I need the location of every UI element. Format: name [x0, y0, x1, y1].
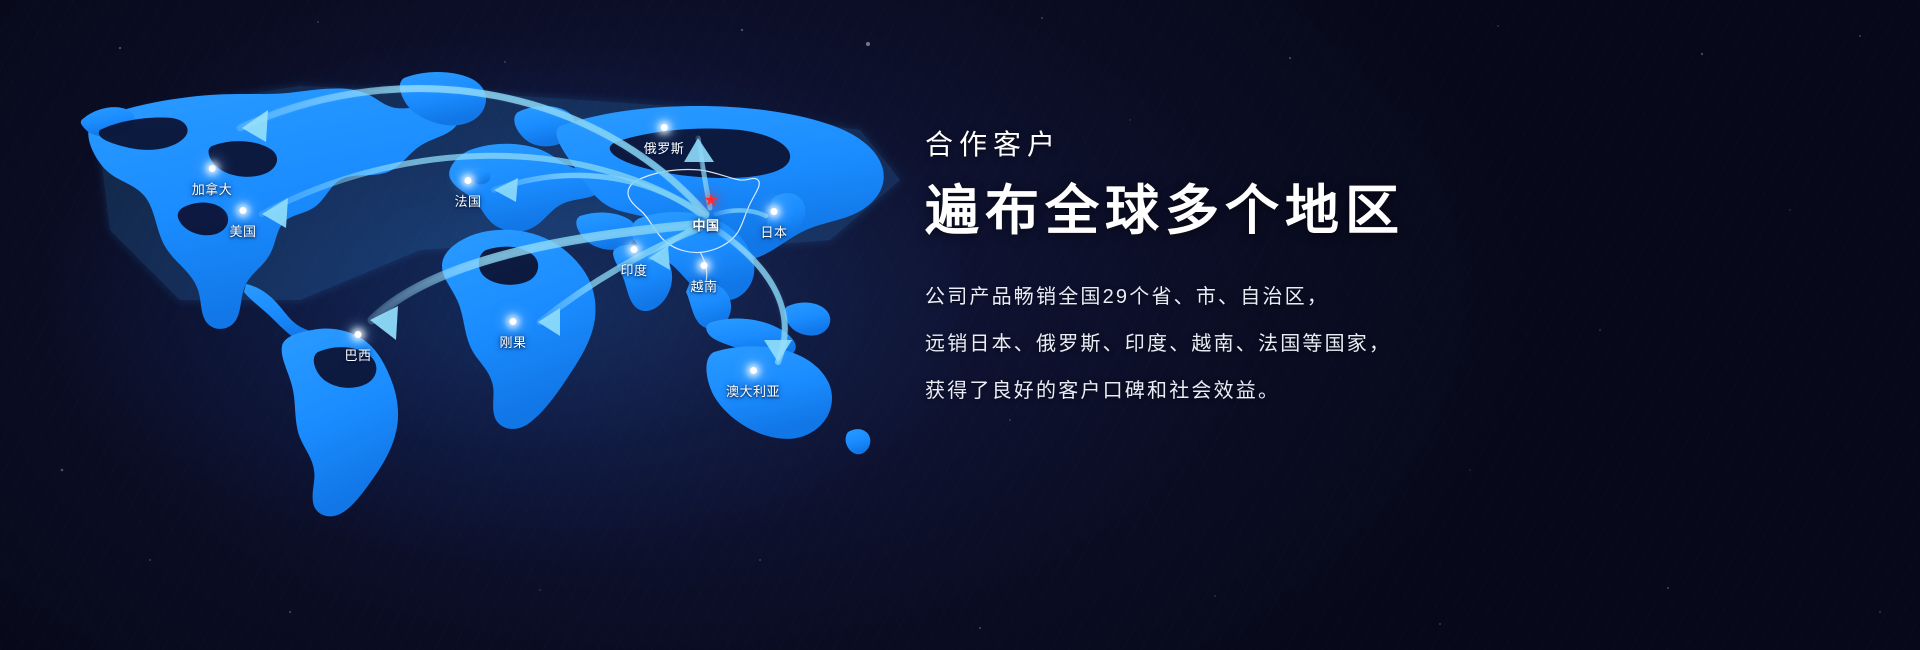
description-line-1: 公司产品畅销全国29个省、市、自治区， [925, 282, 1845, 313]
description-line-3: 获得了良好的客户口碑和社会效益。 [925, 376, 1845, 407]
map-marker-label: 日本 [760, 222, 787, 241]
hero-copy: 合作客户 遍布全球多个地区 公司产品畅销全国29个省、市、自治区， 远销日本、俄… [925, 128, 1845, 407]
map-marker-label: 巴西 [344, 345, 371, 364]
map-marker-australia[interactable]: 澳大利亚 [726, 367, 780, 400]
description-line-2: 远销日本、俄罗斯、印度、越南、法国等国家， [925, 329, 1845, 360]
map-marker-brazil[interactable]: 巴西 [344, 331, 371, 364]
map-marker-label: 俄罗斯 [644, 138, 685, 157]
marker-dot-icon [630, 246, 637, 253]
map-marker-label: 中国 [692, 215, 719, 234]
map-marker-label: 刚果 [499, 332, 526, 351]
marker-dot-icon [700, 262, 707, 269]
marker-dot-icon [749, 367, 756, 374]
map-marker-vietnam[interactable]: 越南 [690, 262, 717, 295]
world-map: 加拿大 美国 巴西 法国 俄罗斯 日本 印度 越南 [0, 0, 960, 650]
map-marker-france[interactable]: 法国 [454, 177, 481, 210]
map-marker-congo[interactable]: 刚果 [499, 318, 526, 351]
map-marker-india[interactable]: 印度 [620, 246, 647, 279]
map-marker-label: 美国 [229, 221, 256, 240]
marker-dot-icon [354, 331, 361, 338]
hero-banner: 加拿大 美国 巴西 法国 俄罗斯 日本 印度 越南 [0, 0, 1920, 650]
map-marker-canada[interactable]: 加拿大 [192, 165, 233, 198]
eyebrow-heading: 合作客户 [925, 128, 1845, 162]
marker-dot-icon [239, 207, 246, 214]
home-marker-star-icon: ★ [703, 192, 718, 209]
map-marker-label: 印度 [620, 260, 647, 279]
page-title: 遍布全球多个地区 [925, 180, 1845, 242]
map-marker-japan[interactable]: 日本 [760, 208, 787, 241]
description-paragraph: 公司产品畅销全国29个省、市、自治区， 远销日本、俄罗斯、印度、越南、法国等国家… [925, 282, 1845, 407]
marker-dot-icon [770, 208, 777, 215]
map-marker-label: 越南 [690, 276, 717, 295]
marker-dot-icon [208, 165, 215, 172]
marker-dot-icon [464, 177, 471, 184]
world-map-svg [0, 0, 960, 650]
map-marker-label: 澳大利亚 [726, 381, 780, 400]
map-marker-label: 加拿大 [192, 179, 233, 198]
map-marker-russia[interactable]: 俄罗斯 [644, 124, 685, 157]
map-marker-china[interactable]: 中国 [692, 215, 719, 234]
marker-dot-icon [660, 124, 667, 131]
map-marker-usa[interactable]: 美国 [229, 207, 256, 240]
map-marker-label: 法国 [454, 191, 481, 210]
marker-dot-icon [509, 318, 516, 325]
